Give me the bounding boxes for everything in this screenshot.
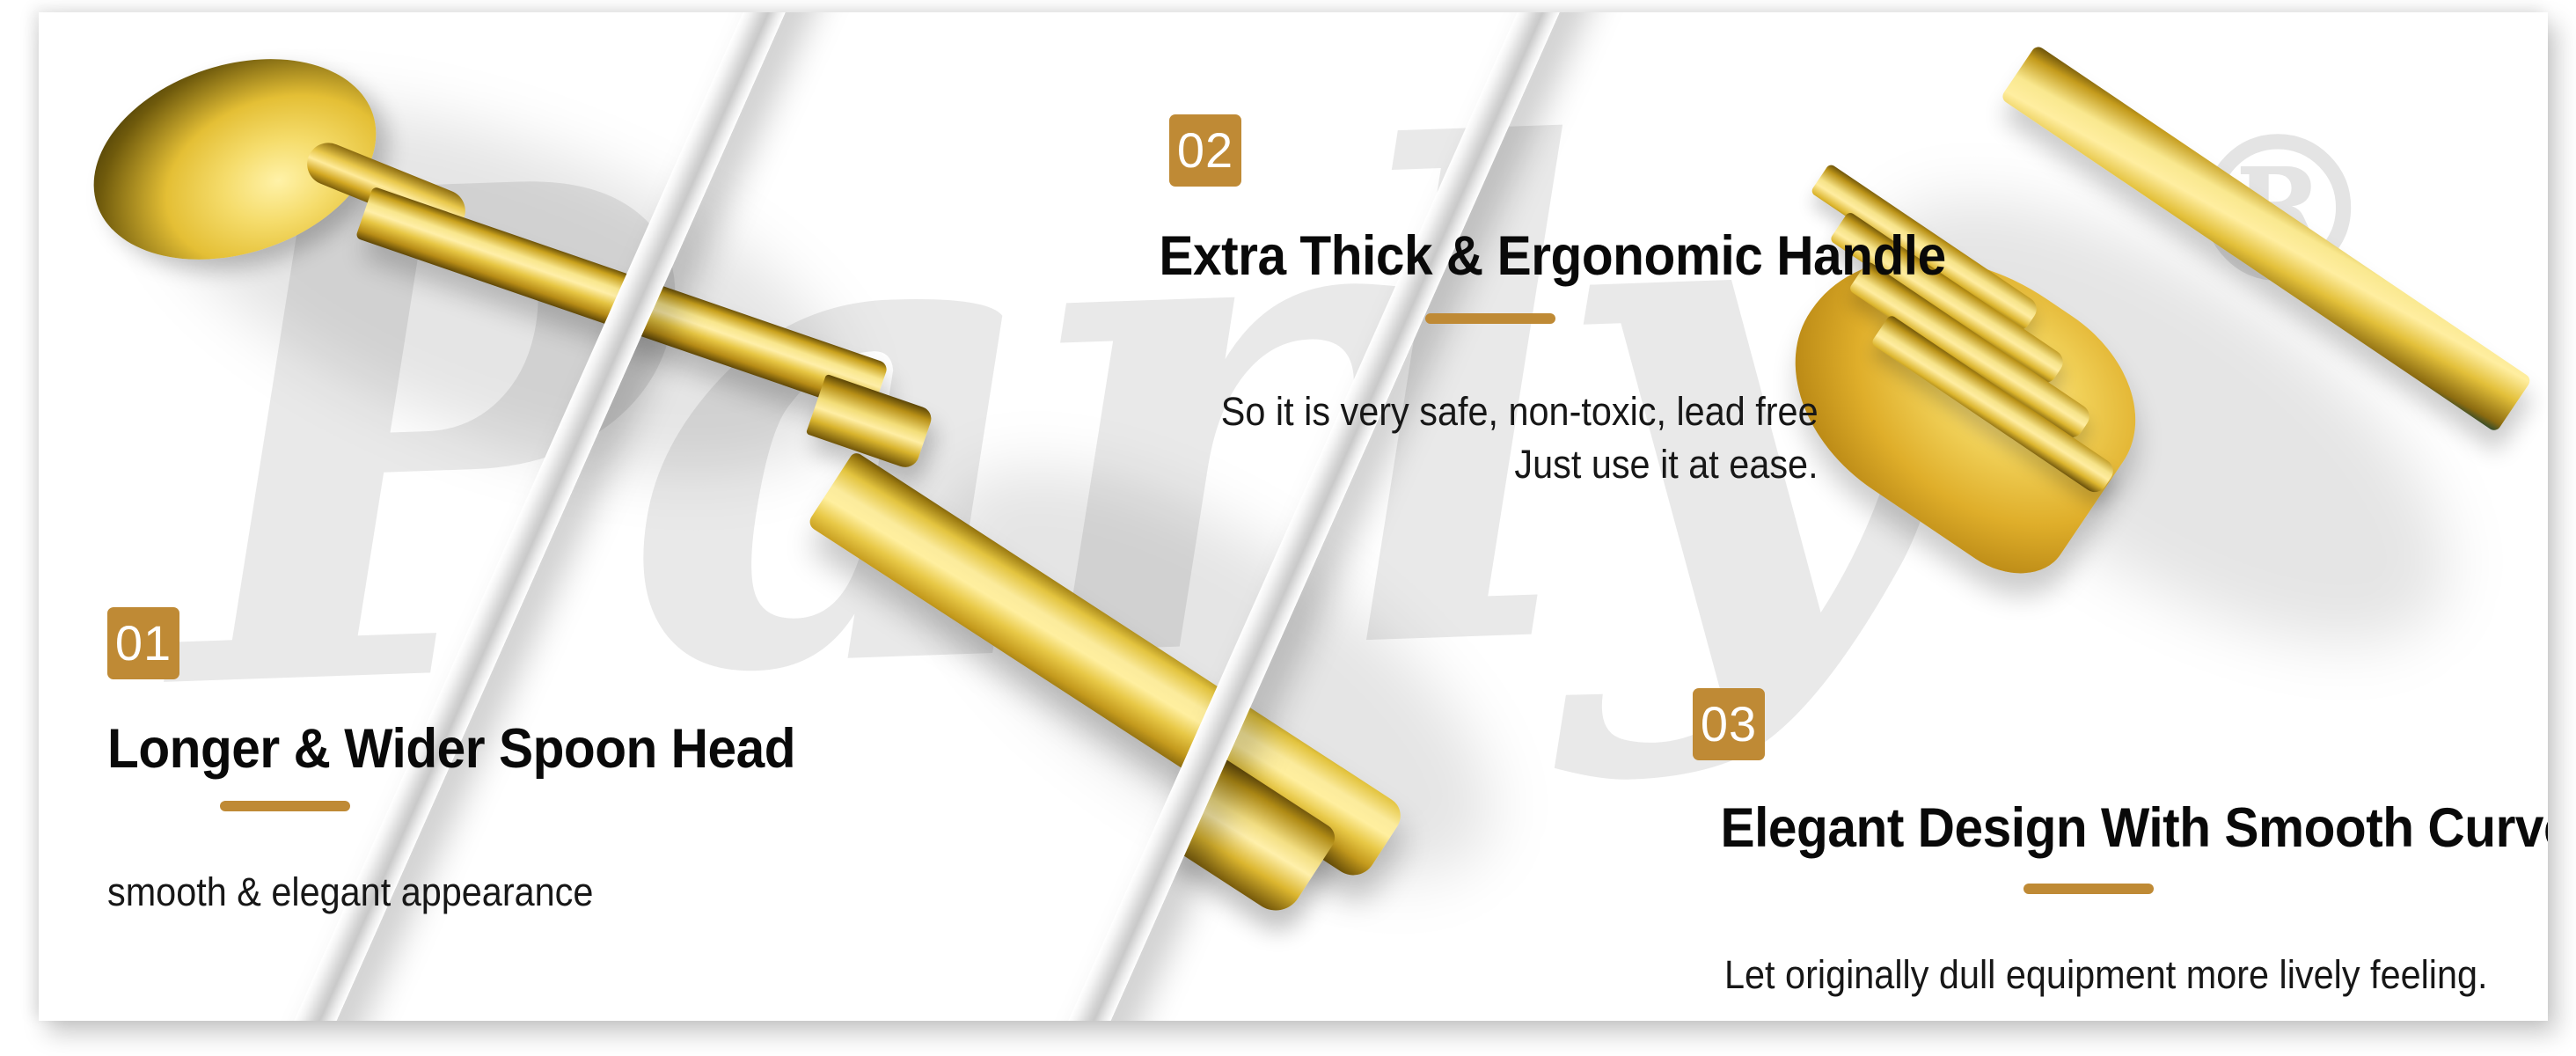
feature-block-02: 02 Extra Thick & Ergonomic Handle So it … [1134,114,1847,492]
feature-description-03: Let originally dull equipment more livel… [1724,949,2453,1001]
feature-description-01: smooth & elegant appearance [107,866,788,919]
feature-number-badge-01: 01 [107,607,179,679]
banner-stage: Parly ® 01 Longer & Wider Spoon Head smo… [0,0,2576,1056]
feature-number-badge-02: 02 [1169,114,1241,187]
feature-title-01: Longer & Wider Spoon Head [107,720,795,778]
feature-block-01: 01 Longer & Wider Spoon Head smooth & el… [107,607,847,919]
feature-title-underline-03 [2023,884,2154,894]
feature-title-underline-02 [1425,313,1555,324]
feature-title-underline-01 [220,801,350,811]
feature-block-03: 03 Elegant Design With Smooth Curve Let … [1693,688,2485,1001]
feature-description-02-line-2: Just use it at ease. [1162,438,1818,491]
feature-description-02-line-1: So it is very safe, non-toxic, lead free [1162,385,1818,438]
feature-number-badge-03: 03 [1693,688,1765,760]
feature-title-02: Extra Thick & Ergonomic Handle [1159,227,1821,285]
feature-title-03: Elegant Design With Smooth Curve [1721,799,2457,857]
gold-spoon-handle-tip [806,374,934,471]
product-feature-banner: Parly ® 01 Longer & Wider Spoon Head smo… [39,12,2548,1021]
